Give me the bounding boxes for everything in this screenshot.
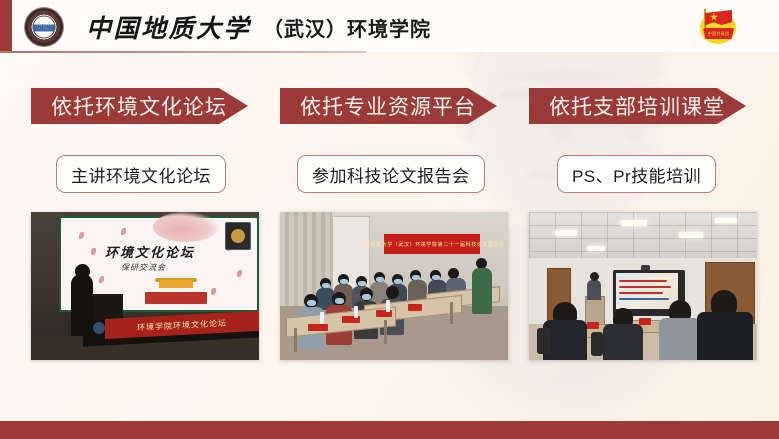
communist-youth-league-emblem-icon: 中国共青团 (698, 6, 738, 46)
slide-footer-bar (0, 421, 779, 439)
page-title: 中国地质大学 （武汉）环境学院 (86, 12, 431, 42)
title-subtext: （武汉）环境学院 (263, 13, 431, 42)
photo3-presenter-body (587, 280, 601, 300)
seal-label: SES (37, 23, 50, 31)
seal-inner-globe: SES (33, 16, 56, 39)
content-columns: 依托环境文化论坛 主讲环境文化论坛 环境文化论坛 保 (0, 52, 779, 421)
environment-culture-forum-photo: 环境文化论坛 保研交流会 环境学院环境文化 (31, 212, 259, 360)
header-left-accent-bar (0, 0, 12, 52)
column-banner-label: 依托环境文化论坛 (31, 91, 227, 121)
photo2-wall-banner: 中国地质大学（武汉）环境学院第二十一届科技论文报告会 (384, 234, 480, 254)
column-banner[interactable]: 依托环境文化论坛 (31, 88, 248, 124)
column-banner-label: 依托专业资源平台 (280, 91, 476, 121)
photo1-ink-splash (153, 212, 219, 242)
slide-canvas: SES 中国地质大学 （武汉）环境学院 中国共青团 依托环境文化论坛 主讲环境文… (0, 0, 779, 439)
emblem-band: 中国共青团 (703, 28, 734, 39)
photo1-screen-title: 环境文化论坛 (105, 242, 195, 261)
column-caption-label: 参加科技论文报告会 (312, 162, 470, 187)
column-banner[interactable]: 依托支部培训课堂 (529, 88, 746, 124)
column-banner[interactable]: 依托专业资源平台 (280, 88, 497, 124)
photo3-screen-content (616, 273, 678, 309)
column-caption-box[interactable]: 主讲环境文化论坛 (56, 155, 226, 193)
photo1-corner-badge (225, 222, 251, 250)
ses-university-seal-icon: SES (25, 8, 63, 46)
photo1-podium-emblem (93, 322, 105, 334)
column-caption-box[interactable]: 参加科技论文报告会 (297, 155, 485, 193)
branch-training-classroom-photo (529, 212, 757, 360)
photo2-wall-banner-text: 中国地质大学（武汉）环境学院第二十一届科技论文报告会 (359, 241, 505, 248)
slide-header: SES 中国地质大学 （武汉）环境学院 中国共青团 (0, 0, 779, 52)
photo1-screen-subtitle: 保研交流会 (121, 262, 166, 273)
title-calligraphy: 中国地质大学 (86, 9, 251, 45)
photo1-stage-banner-text: 环境学院环境文化论坛 (137, 317, 227, 333)
science-paper-conference-photo: 中国地质大学（武汉）环境学院第二十一届科技论文报告会 (280, 212, 508, 360)
photo1-tiananmen-graphic (145, 278, 207, 304)
emblem-band-label: 中国共青团 (708, 31, 730, 37)
column-caption-box[interactable]: PS、Pr技能培训 (557, 155, 716, 193)
photo3-presenter-head (590, 272, 599, 281)
column-caption-label: 主讲环境文化论坛 (71, 162, 211, 187)
column-banner-label: 依托支部培训课堂 (529, 91, 725, 121)
column-caption-label: PS、Pr技能培训 (572, 162, 701, 187)
